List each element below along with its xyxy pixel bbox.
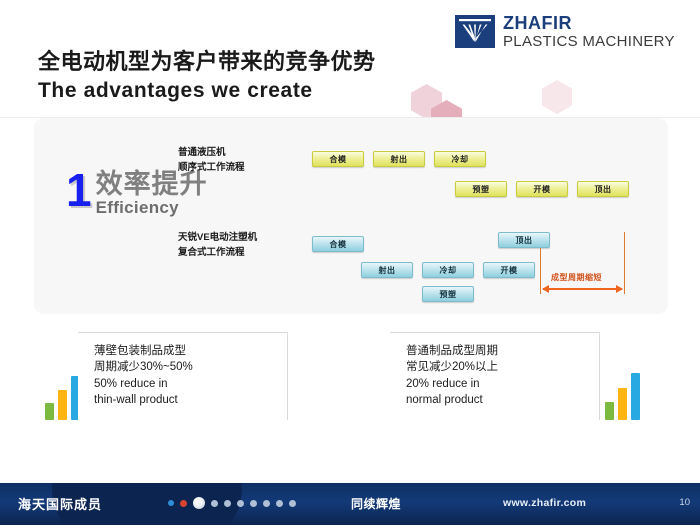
process-box-ve-electric: 开模 (483, 262, 535, 278)
slide-footer: 海天国际成员 同续辉煌 www.zhafir.com 10 (0, 483, 700, 525)
callout-line: 薄壁包装制品成型 (94, 343, 277, 359)
process-box-ve-electric: 射出 (361, 262, 413, 278)
footer-dot-6 (237, 500, 244, 507)
callout-line: 常见减少20%以上 (406, 359, 589, 375)
decorative-bar (631, 373, 640, 420)
callout-line: thin-wall product (94, 392, 277, 408)
bar-decoration-left (45, 375, 80, 420)
brand-logo: ZHAFIR PLASTICS MACHINERY (455, 14, 675, 49)
cycle-note-label: 成型周期缩短 (551, 272, 602, 283)
diagram-panel: 1 效率提升 Efficiency (34, 118, 668, 314)
flow-label-ve-line1: 天锐VE电动注塑机 (178, 231, 257, 246)
process-box-hydraulic: 合模 (312, 151, 364, 167)
page-title: 全电动机型为客户带来的竞争优势 The advantages we create (38, 48, 376, 104)
title-chinese: 全电动机型为客户带来的竞争优势 (38, 48, 376, 76)
footer-dot-5 (224, 500, 231, 507)
flow-label-hydraulic: 普通液压机 顺序式工作流程 (178, 146, 245, 175)
cycle-arrow (543, 288, 622, 290)
cycle-guide-line-left (540, 248, 541, 294)
flow-label-ve: 天锐VE电动注塑机 复合式工作流程 (178, 231, 257, 260)
callout-line: 20% reduce in (406, 376, 589, 392)
decorative-bar (605, 402, 614, 420)
footer-dot-7 (250, 500, 257, 507)
process-box-hydraulic: 顶出 (577, 181, 629, 197)
cycle-guide-line-right (624, 232, 625, 294)
logo-line-2: PLASTICS MACHINERY (503, 34, 675, 49)
efficiency-heading: 1 效率提升 Efficiency (66, 170, 208, 218)
process-box-hydraulic: 开模 (516, 181, 568, 197)
decorative-bar (618, 388, 627, 420)
callout-normal-product: 普通制品成型周期 常见减少20%以上 20% reduce in normal … (390, 332, 600, 420)
footer-dot-2 (180, 500, 187, 507)
footer-slogan: 同续辉煌 (351, 495, 401, 512)
bar-decoration-right (605, 372, 640, 420)
callout-thin-wall: 薄壁包装制品成型 周期减少30%~50% 50% reduce in thin-… (78, 332, 288, 420)
callout-line: 50% reduce in (94, 376, 277, 392)
flow-label-hydraulic-line1: 普通液压机 (178, 146, 245, 161)
process-box-ve-electric: 冷却 (422, 262, 474, 278)
efficiency-label-english: Efficiency (96, 199, 208, 218)
process-box-ve-electric: 合模 (312, 236, 364, 252)
footer-dot-3 (193, 497, 205, 509)
footer-dot-1 (168, 500, 174, 506)
footer-url[interactable]: www.zhafir.com (503, 497, 586, 509)
process-box-ve-electric: 顶出 (498, 232, 550, 248)
footer-dot-4 (211, 500, 218, 507)
callout-line: 普通制品成型周期 (406, 343, 589, 359)
footer-page-number: 10 (679, 497, 690, 508)
logo-line-1: ZHAFIR (503, 14, 675, 32)
logo-wordmark: ZHAFIR PLASTICS MACHINERY (503, 14, 675, 49)
process-box-ve-electric: 预塑 (422, 286, 474, 302)
slide-canvas: ZHAFIR PLASTICS MACHINERY 全电动机型为客户带来的竞争优… (0, 0, 700, 525)
flow-label-ve-line2: 复合式工作流程 (178, 246, 257, 261)
footer-dot-10 (289, 500, 296, 507)
process-box-hydraulic: 射出 (373, 151, 425, 167)
footer-dot-8 (263, 500, 270, 507)
decorative-bar (45, 403, 54, 420)
zhafir-emblem-icon (455, 15, 495, 48)
title-english: The advantages we create (38, 77, 376, 104)
footer-dot-9 (276, 500, 283, 507)
hexagon-decoration-c (542, 80, 572, 114)
section-number: 1 (66, 170, 92, 211)
flow-label-hydraulic-line2: 顺序式工作流程 (178, 161, 245, 176)
footer-dot-row (168, 497, 296, 509)
callout-line: 周期减少30%~50% (94, 359, 277, 375)
process-box-hydraulic: 冷却 (434, 151, 486, 167)
decorative-bar (58, 390, 67, 420)
process-box-hydraulic: 预塑 (455, 181, 507, 197)
callout-line: normal product (406, 392, 589, 408)
footer-member-text: 海天国际成员 (18, 494, 102, 513)
